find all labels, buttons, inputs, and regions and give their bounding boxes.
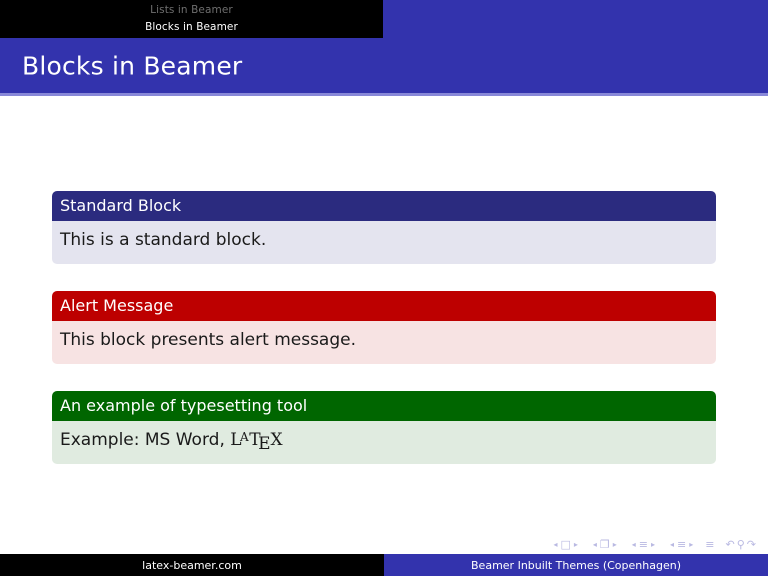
latex-logo-e: E xyxy=(258,434,270,454)
navigation-symbols: ◂ □ ▸ ◂ ❐ ▸ ◂ ≡ ▸ ◂ ≡ ▸ ≡ ↶ ⚲ ↷ xyxy=(550,539,756,550)
standard-block-body: This is a standard block. xyxy=(52,221,716,264)
nav-entry-lists-in-beamer[interactable]: Lists in Beamer xyxy=(150,2,233,19)
top-navigation-bar: Lists in Beamer Blocks in Beamer xyxy=(0,0,768,38)
example-block-title: An example of typesetting tool xyxy=(52,391,716,421)
beamer-slide: Lists in Beamer Blocks in Beamer Blocks … xyxy=(0,0,768,576)
nav-entry-blocks-in-beamer[interactable]: Blocks in Beamer xyxy=(145,19,238,36)
page-title: Blocks in Beamer xyxy=(22,51,242,80)
alert-block-title: Alert Message xyxy=(52,291,716,321)
section-prev-arrow-icon[interactable]: ◂ xyxy=(667,539,677,550)
subsection-next-arrow-icon[interactable]: ▸ xyxy=(648,539,658,550)
example-block-body-text: Example: MS Word, xyxy=(60,430,230,450)
frame-title-bar: Blocks in Beamer xyxy=(0,38,768,93)
latex-logo: LATEX xyxy=(230,430,282,450)
footer-title: Beamer Inbuilt Themes (Copenhagen) xyxy=(384,554,768,576)
standard-block-title: Standard Block xyxy=(52,191,716,221)
go-back-icon[interactable]: ↶ xyxy=(726,539,735,550)
footer-author: latex-beamer.com xyxy=(0,554,384,576)
alert-block-body: This block presents alert message. xyxy=(52,321,716,364)
slide-next-arrow-icon[interactable]: ▸ xyxy=(571,539,581,550)
presentation-document-icon[interactable]: ≡ xyxy=(705,539,714,550)
slide-square-icon[interactable]: □ xyxy=(560,539,570,550)
example-block: An example of typesetting tool Example: … xyxy=(52,391,716,464)
footer-bar: latex-beamer.com Beamer Inbuilt Themes (… xyxy=(0,554,768,576)
section-next-arrow-icon[interactable]: ▸ xyxy=(686,539,696,550)
slide-prev-arrow-icon[interactable]: ◂ xyxy=(550,539,560,550)
navigation-entries: Lists in Beamer Blocks in Beamer xyxy=(0,0,383,38)
go-forward-icon[interactable]: ↷ xyxy=(747,539,756,550)
frame-navigation-group[interactable]: ◂ ❐ ▸ xyxy=(590,539,620,550)
subsection-navigation-group[interactable]: ◂ ≡ ▸ xyxy=(629,539,658,550)
frame-stack-icon[interactable]: ❐ xyxy=(600,539,610,550)
example-block-body: Example: MS Word, LATEX xyxy=(52,421,716,464)
slide-navigation-group[interactable]: ◂ □ ▸ xyxy=(550,539,580,550)
subsection-lines-icon[interactable]: ≡ xyxy=(639,539,648,550)
frame-next-arrow-icon[interactable]: ▸ xyxy=(610,539,620,550)
frame-prev-arrow-icon[interactable]: ◂ xyxy=(590,539,600,550)
alert-block: Alert Message This block presents alert … xyxy=(52,291,716,364)
subsection-prev-arrow-icon[interactable]: ◂ xyxy=(629,539,639,550)
latex-logo-a: A xyxy=(240,430,248,444)
section-lines-icon[interactable]: ≡ xyxy=(677,539,686,550)
standard-block: Standard Block This is a standard block. xyxy=(52,191,716,264)
blocks-container: Standard Block This is a standard block.… xyxy=(52,191,716,491)
section-navigation-group[interactable]: ◂ ≡ ▸ xyxy=(667,539,696,550)
title-underline-rule xyxy=(0,93,768,96)
search-icon[interactable]: ⚲ xyxy=(737,539,745,550)
